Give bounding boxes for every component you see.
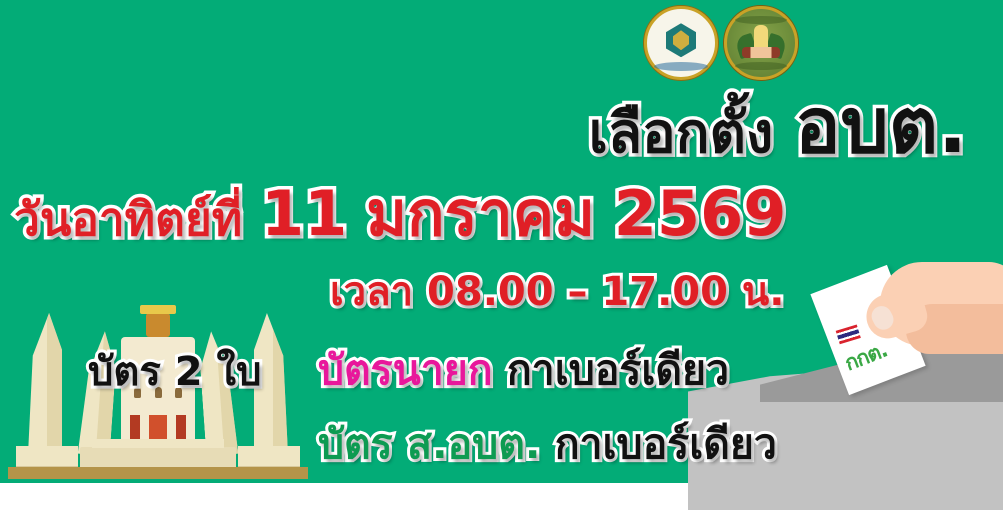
monument-wing-shade (273, 313, 288, 455)
seal-ring-top-text (735, 16, 787, 24)
mayor-ballot-row: บัตรนายก กาเบอร์เดียว (318, 350, 729, 391)
emblem-group (640, 2, 820, 80)
hand-thumbnail (868, 303, 897, 334)
date-month: มกราคม (366, 177, 595, 250)
crest-inner-shape (673, 30, 689, 50)
monument-wing-shade (47, 313, 62, 455)
date-day-number: 11 (261, 177, 347, 250)
monument-plinth (8, 467, 308, 479)
ballot-count-label: บัตร 2 ใบ (88, 352, 261, 392)
seal-ring-text (654, 62, 708, 71)
monument-wing (28, 313, 62, 455)
election-time: เวลา 08.00 – 17.00 น. (330, 272, 784, 312)
seal-ring-bottom-text (735, 62, 787, 70)
council-ballot-row: บัตร ส.อบต. กาเบอร์เดียว (318, 424, 777, 465)
subdistrict-administrative-organization-seal-icon (724, 6, 798, 80)
headline-prefix: เลือกตั้ง (589, 101, 774, 166)
headline-emphasis: อบต. (795, 81, 967, 170)
page-title: เลือกตั้ง อบต. (589, 88, 967, 164)
handshake-icon (742, 47, 780, 58)
election-date: วันอาทิตย์ที่ 11 มกราคม 2569 (14, 183, 786, 245)
council-ballot-label: บัตร ส.อบต. (318, 420, 540, 468)
mayor-ballot-instruction: กาเบอร์เดียว (507, 346, 729, 394)
mayor-ballot-label: บัตรนายก (318, 346, 493, 394)
council-ballot-instruction: กาเบอร์เดียว (555, 420, 777, 468)
monument-steps (80, 447, 236, 469)
monument-wing-base (16, 446, 78, 469)
monument-wing-base (238, 446, 300, 469)
crest-shape (666, 23, 696, 57)
election-commission-seal-icon (644, 6, 718, 80)
date-day-label: วันอาทิตย์ที่ (14, 192, 242, 246)
date-year: 2569 (614, 177, 787, 250)
monument-tower-cap (146, 313, 170, 337)
voter-hand-illustration (866, 252, 1003, 370)
thai-flag-icon (836, 324, 861, 344)
election-announcement-banner: กกต. เลือกตั้ง อบต. วันอาทิตย์ที่ 11 มกร… (0, 0, 1003, 510)
